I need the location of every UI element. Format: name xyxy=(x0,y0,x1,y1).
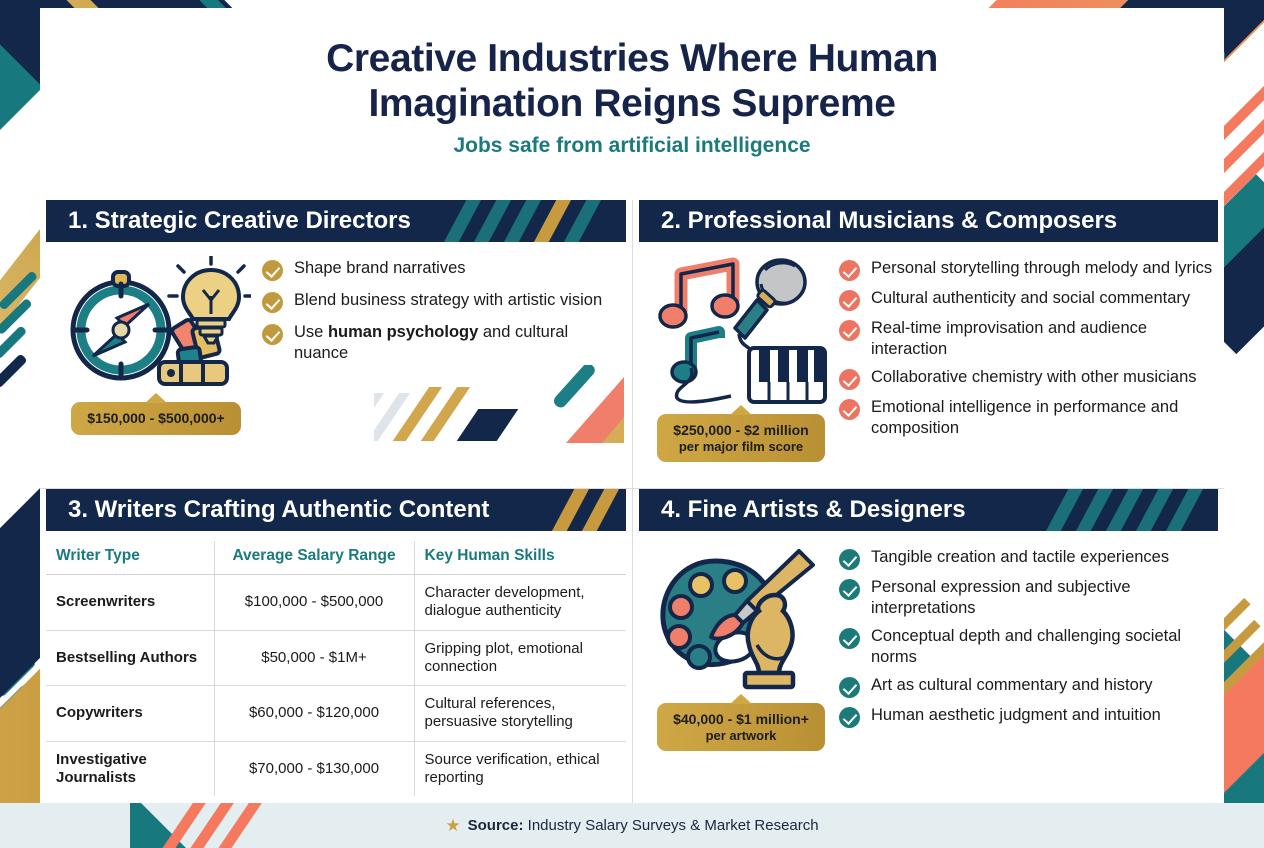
deco-tick-teal-2 xyxy=(0,298,33,335)
bullet-text: Human aesthetic judgment and intuition xyxy=(871,705,1161,726)
panel-4-header: 4. Fine Artists & Designers xyxy=(639,489,1218,531)
panel-1-salary-line1: $150,000 - $500,000+ xyxy=(87,410,224,426)
compass-icon xyxy=(73,272,169,378)
cell-key-skills: Source verification, ethical reporting xyxy=(414,741,626,796)
check-icon xyxy=(839,677,860,698)
panel-3-header: 3. Writers Crafting Authentic Content xyxy=(46,489,626,531)
panel-1-header-stripes xyxy=(446,200,626,242)
panel-strategic-creative-directors: 1. Strategic Creative Directors xyxy=(40,200,632,488)
list-item: Human aesthetic judgment and intuition xyxy=(839,705,1214,728)
check-icon xyxy=(262,292,283,313)
check-icon xyxy=(839,260,860,281)
column-header-key-skills: Key Human Skills xyxy=(414,541,626,575)
list-item: Cultural authenticity and social comment… xyxy=(839,288,1214,311)
panel-4-title: 4. Fine Artists & Designers xyxy=(639,496,966,524)
teal-note-icon xyxy=(672,332,731,402)
microphone-icon xyxy=(735,260,805,354)
panel-4-bullet-list: Tangible creation and tactile experience… xyxy=(839,545,1214,751)
bullet-text: Collaborative chemistry with other music… xyxy=(871,367,1197,388)
compass-lightbulb-swatch-icon xyxy=(61,256,251,396)
panel-4-header-stripes xyxy=(1038,489,1218,531)
table-row: Copywriters $60,000 - $120,000 Cultural … xyxy=(46,686,626,742)
check-icon xyxy=(839,579,860,600)
check-icon xyxy=(839,628,860,649)
music-notes-microphone-piano-icon xyxy=(653,256,829,408)
cell-key-skills: Gripping plot, emotional connection xyxy=(414,630,626,686)
cell-salary-range: $70,000 - $130,000 xyxy=(214,741,414,796)
cell-salary-range: $60,000 - $120,000 xyxy=(214,686,414,742)
cell-writer-type: Investigative Journalists xyxy=(46,741,214,796)
bullet-text: Blend business strategy with artistic vi… xyxy=(294,290,602,311)
panel-4-illustration-column: $40,000 - $1 million+ per artwork xyxy=(643,545,839,751)
bullet-emphasis: human psychology xyxy=(328,323,478,341)
list-item: Art as cultural commentary and history xyxy=(839,675,1214,698)
panel-1-corner-decoration xyxy=(374,365,624,443)
cell-key-skills: Character development, dialogue authenti… xyxy=(414,575,626,631)
panel-4-salary-line2: per artwork xyxy=(673,728,809,744)
cell-writer-type: Bestselling Authors xyxy=(46,630,214,686)
panel-4-salary-line1: $40,000 - $1 million+ xyxy=(673,711,809,727)
check-icon xyxy=(839,399,860,420)
piano-keys-icon xyxy=(749,348,825,402)
panel-3-title: 3. Writers Crafting Authentic Content xyxy=(46,496,489,524)
check-icon xyxy=(262,324,283,345)
footer-source-bar: ★ Source: Industry Salary Surveys & Mark… xyxy=(0,803,1264,848)
bullet-text: Real-time improvisation and audience int… xyxy=(871,318,1214,360)
deco-tick-teal-3 xyxy=(0,325,27,360)
cell-salary-range: $100,000 - $500,000 xyxy=(214,575,414,631)
footer-coral-stripe-3 xyxy=(218,803,262,848)
list-item: Collaborative chemistry with other music… xyxy=(839,367,1214,390)
check-icon xyxy=(839,549,860,570)
bullet-text: Emotional intelligence in performance an… xyxy=(871,397,1214,439)
star-icon: ★ xyxy=(445,816,460,836)
check-icon xyxy=(839,320,860,341)
writers-salary-table: Writer Type Average Salary Range Key Hum… xyxy=(46,541,626,796)
check-icon xyxy=(262,260,283,281)
table-row: Investigative Journalists $70,000 - $130… xyxy=(46,741,626,796)
check-icon xyxy=(839,369,860,390)
source-value: Industry Salary Surveys & Market Researc… xyxy=(524,817,819,834)
page-subtitle: Jobs safe from artificial intelligence xyxy=(40,134,1224,158)
panel-2-title: 2. Professional Musicians & Composers xyxy=(639,207,1117,235)
list-item: Conceptual depth and challenging societa… xyxy=(839,626,1214,668)
bullet-text: Shape brand narratives xyxy=(294,258,466,279)
cell-writer-type: Copywriters xyxy=(46,686,214,742)
panel-grid: 1. Strategic Creative Directors xyxy=(40,200,1224,803)
panel-2-bullet-list: Personal storytelling through melody and… xyxy=(839,256,1214,462)
list-item: Personal storytelling through melody and… xyxy=(839,258,1214,281)
panel-3-header-stripes xyxy=(546,489,626,531)
cell-salary-range: $50,000 - $1M+ xyxy=(214,630,414,686)
deco-tick-teal-6 xyxy=(0,684,31,722)
page-title: Creative Industries Where Human Imaginat… xyxy=(40,36,1224,126)
panel-1-header: 1. Strategic Creative Directors xyxy=(46,200,626,242)
list-item: Use human psychology and cultural nuance xyxy=(262,322,622,364)
bullet-text: Conceptual depth and challenging societa… xyxy=(871,626,1214,668)
table-header-row: Writer Type Average Salary Range Key Hum… xyxy=(46,541,626,575)
title-line-1: Creative Industries Where Human xyxy=(40,36,1224,81)
column-header-writer-type: Writer Type xyxy=(46,541,214,575)
deco-tick-teal-5 xyxy=(0,656,37,697)
bullet-text: Cultural authenticity and social comment… xyxy=(871,288,1190,309)
panel-writers-crafting-content: 3. Writers Crafting Authentic Content Wr… xyxy=(40,488,632,803)
panel-fine-artists-designers: 4. Fine Artists & Designers xyxy=(632,488,1224,803)
bullet-text: Art as cultural commentary and history xyxy=(871,675,1153,696)
panel-1-body: $150,000 - $500,000+ Shape brand narrati… xyxy=(46,242,626,435)
list-item: Personal expression and subjective inter… xyxy=(839,577,1214,619)
deco-tick-navy-1 xyxy=(0,353,28,388)
check-icon xyxy=(839,290,860,311)
bullet-text: Personal storytelling through melody and… xyxy=(871,258,1212,279)
panel-2-salary-line1: $250,000 - $2 million xyxy=(673,422,808,438)
deco-tick-teal-1 xyxy=(0,270,38,310)
panel-2-salary-badge: $250,000 - $2 million per major film sco… xyxy=(657,414,824,462)
panel-1-title: 1. Strategic Creative Directors xyxy=(46,207,411,235)
footer-teal-triangle xyxy=(130,803,186,848)
panel-4-salary-badge: $40,000 - $1 million+ per artwork xyxy=(657,703,825,751)
cell-key-skills: Cultural references, persuasive storytel… xyxy=(414,686,626,742)
coral-note-icon xyxy=(660,264,738,327)
table-row: Bestselling Authors $50,000 - $1M+ Gripp… xyxy=(46,630,626,686)
source-text: Source: Industry Salary Surveys & Market… xyxy=(468,817,819,834)
content-card: Creative Industries Where Human Imaginat… xyxy=(40,8,1224,803)
panel-1-salary-badge: $150,000 - $500,000+ xyxy=(71,402,240,435)
bullet-text: Use human psychology and cultural nuance xyxy=(294,322,622,364)
list-item: Shape brand narratives xyxy=(262,258,622,281)
header: Creative Industries Where Human Imaginat… xyxy=(40,8,1224,158)
list-item: Emotional intelligence in performance an… xyxy=(839,397,1214,439)
bullet-text: Tangible creation and tactile experience… xyxy=(871,547,1169,568)
palette-brush-sculpture-icon xyxy=(653,545,829,697)
panel-2-header: 2. Professional Musicians & Composers xyxy=(639,200,1218,242)
footer-coral-stripe-1 xyxy=(162,803,206,848)
panel-2-body: $250,000 - $2 million per major film sco… xyxy=(639,242,1218,462)
panel-4-body: $40,000 - $1 million+ per artwork Tangib… xyxy=(639,531,1218,751)
panel-professional-musicians: 2. Professional Musicians & Composers xyxy=(632,200,1224,488)
footer-coral-stripe-2 xyxy=(190,803,234,848)
panel-1-illustration-column: $150,000 - $500,000+ xyxy=(50,256,262,435)
deco-tick-teal-4 xyxy=(0,629,42,673)
source-label: Source: xyxy=(468,817,524,834)
column-header-salary-range: Average Salary Range xyxy=(214,541,414,575)
panel-2-illustration-column: $250,000 - $2 million per major film sco… xyxy=(643,256,839,462)
panel-2-salary-line2: per major film score xyxy=(673,439,808,455)
cell-writer-type: Screenwriters xyxy=(46,575,214,631)
table-row: Screenwriters $100,000 - $500,000 Charac… xyxy=(46,575,626,631)
title-line-2: Imagination Reigns Supreme xyxy=(40,81,1224,126)
check-icon xyxy=(839,707,860,728)
infographic-canvas: Creative Industries Where Human Imaginat… xyxy=(0,0,1264,848)
list-item: Tangible creation and tactile experience… xyxy=(839,547,1214,570)
list-item: Real-time improvisation and audience int… xyxy=(839,318,1214,360)
bullet-text: Personal expression and subjective inter… xyxy=(871,577,1214,619)
list-item: Blend business strategy with artistic vi… xyxy=(262,290,622,313)
